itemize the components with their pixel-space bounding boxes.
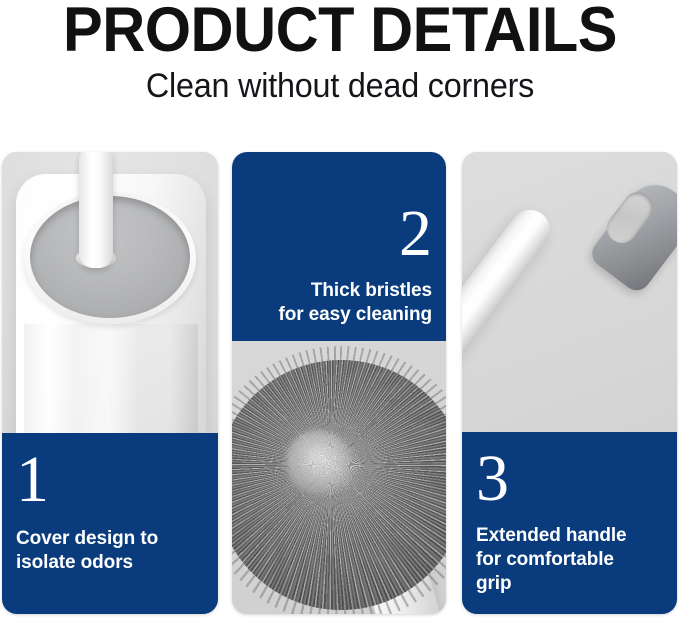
feature-caption-3: Extended handle for comfortable grip	[476, 524, 663, 596]
bristle-center-highlight	[286, 430, 350, 494]
feature-panel-2[interactable]: 2 Thick bristles for easy cleaning	[232, 152, 446, 614]
feature-caption-1-line-2: isolate odors	[16, 551, 204, 575]
feature-number-3: 3	[476, 446, 663, 512]
feature-number-2: 2	[246, 201, 432, 267]
feature-caption-3-line-2: for comfortable	[476, 548, 663, 572]
feature-info-block-1: 1 Cover design to isolate odors	[2, 433, 218, 614]
feature-panel-3[interactable]: 3 Extended handle for comfortable grip	[462, 152, 677, 614]
feature-number-1: 1	[16, 447, 204, 513]
page-header: PRODUCT DETAILS Clean without dead corne…	[0, 0, 679, 150]
feature-caption-2: Thick bristles for easy cleaning	[246, 279, 432, 327]
feature-caption-2-line-1: Thick bristles	[246, 279, 432, 303]
page-title: PRODUCT DETAILS	[28, 0, 652, 62]
feature-caption-1: Cover design to isolate odors	[16, 527, 204, 575]
feature-panels: 1 Cover design to isolate odors 2 Thick …	[0, 150, 679, 620]
feature-info-block-3: 3 Extended handle for comfortable grip	[462, 432, 677, 614]
feature-info-block-2: 2 Thick bristles for easy cleaning	[232, 152, 446, 341]
feature-caption-2-line-2: for easy cleaning	[246, 303, 432, 327]
feature-caption-3-line-3: grip	[476, 572, 663, 596]
feature-panel-1[interactable]: 1 Cover design to isolate odors	[2, 152, 218, 614]
feature-caption-3-line-1: Extended handle	[476, 524, 663, 548]
feature-caption-1-line-1: Cover design to	[16, 527, 204, 551]
page-subtitle: Clean without dead corners	[27, 66, 654, 106]
brush-handle-shape	[79, 152, 113, 268]
